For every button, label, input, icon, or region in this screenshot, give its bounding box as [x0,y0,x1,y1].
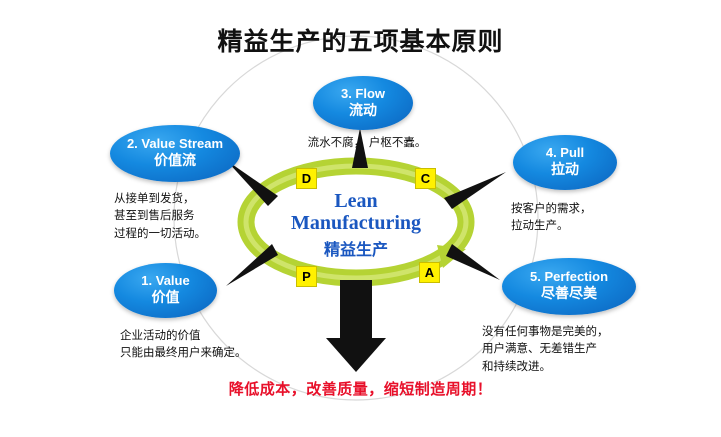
principle-title-cn: 流动 [349,103,377,119]
principle-title-en: 4. Pull [546,146,584,161]
footer-slogan: 降低成本，改善质量，缩短制造周期！ [0,378,721,399]
principle-caption-value-stream: 从接单到发货， 甚至到售后服务 过程的一切活动。 [114,190,264,242]
result-arrow-head [326,338,386,372]
center-label-cn: 精益生产 [258,236,454,260]
diagram-canvas: 精益生产的五项基本原则 3. Flow 流动 2. Value Stream 价… [0,0,721,437]
principle-title-cn: 价值流 [154,153,196,169]
principle-bubble-value-stream[interactable]: 2. Value Stream 价值流 [110,125,240,182]
principle-caption-perfection: 没有任何事物是完美的， 用户满意、无差错生产 和持续改进。 [482,323,662,375]
page-title: 精益生产的五项基本原则 [0,22,721,58]
principle-bubble-flow[interactable]: 3. Flow 流动 [313,76,413,130]
result-arrow-shaft [340,280,372,342]
principle-title-en: 2. Value Stream [127,137,223,152]
principle-caption-value: 企业活动的价值 只能由最终用户来确定。 [120,327,290,362]
arrow-perfection [446,244,500,280]
principle-caption-pull: 按客户的需求， 拉动生产。 [511,200,651,235]
principle-caption-flow: 流水不腐， 户枢不蠹。 [282,134,452,151]
principle-bubble-perfection[interactable]: 5. Perfection 尽善尽美 [502,258,636,315]
center-label-line1: Lean [258,190,454,212]
principle-title-cn: 尽善尽美 [541,286,597,302]
principle-bubble-pull[interactable]: 4. Pull 拉动 [513,135,617,190]
principle-title-cn: 拉动 [551,162,579,178]
pdca-letter-c: C [415,168,436,189]
principle-title-en: 1. Value [141,274,189,289]
pdca-letter-p: P [296,266,317,287]
pdca-letter-a: A [419,262,440,283]
center-label-line2: Manufacturing [258,212,454,234]
principle-title-cn: 价值 [152,290,180,306]
principle-bubble-value[interactable]: 1. Value 价值 [114,263,217,318]
principle-title-en: 3. Flow [341,87,385,102]
pdca-letter-d: D [296,168,317,189]
principle-title-en: 5. Perfection [530,270,608,285]
result-arrow [326,280,386,372]
center-label: Lean Manufacturing 精益生产 [258,190,454,260]
